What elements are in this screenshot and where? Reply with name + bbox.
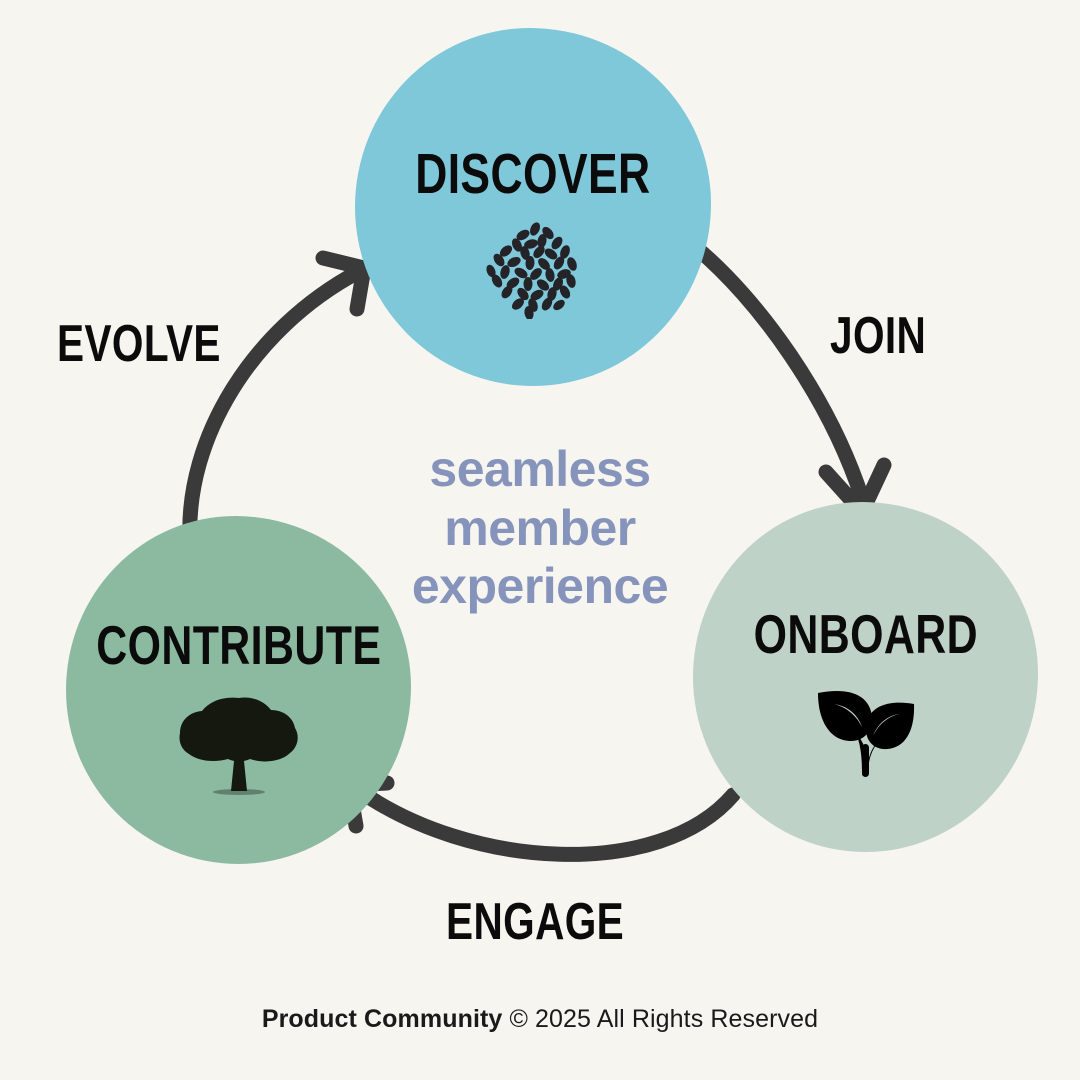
seed-cluster-icon (473, 219, 593, 319)
arrow-label-engage: ENGAGE (446, 896, 624, 948)
node-contribute-label: CONTRIBUTE (96, 618, 381, 673)
footer-brand: Product Community (262, 1005, 503, 1033)
center-caption-line-3: experience (340, 557, 740, 616)
footer-copyright: Product Community © 2025 All Rights Rese… (0, 1005, 1080, 1034)
center-caption: seamless member experience (340, 440, 740, 616)
center-caption-line-2: member (340, 499, 740, 558)
arrow-label-evolve: EVOLVE (57, 318, 221, 370)
center-caption-line-1: seamless (340, 440, 740, 499)
sprout-icon (814, 684, 918, 780)
arrow-evolve-shaft (190, 272, 358, 538)
footer-rights: © 2025 All Rights Reserved (502, 1005, 818, 1033)
node-onboard-label: ONBOARD (753, 607, 977, 662)
diagram-canvas: DISCOVER (0, 0, 1080, 1080)
node-discover-label: DISCOVER (415, 146, 650, 203)
arrow-evolve (190, 258, 364, 538)
arrow-engage-shaft (357, 789, 733, 854)
node-onboard[interactable]: ONBOARD (693, 502, 1038, 852)
arrow-label-join: JOIN (830, 310, 926, 362)
node-discover[interactable]: DISCOVER (355, 28, 711, 386)
tree-icon (176, 693, 302, 797)
